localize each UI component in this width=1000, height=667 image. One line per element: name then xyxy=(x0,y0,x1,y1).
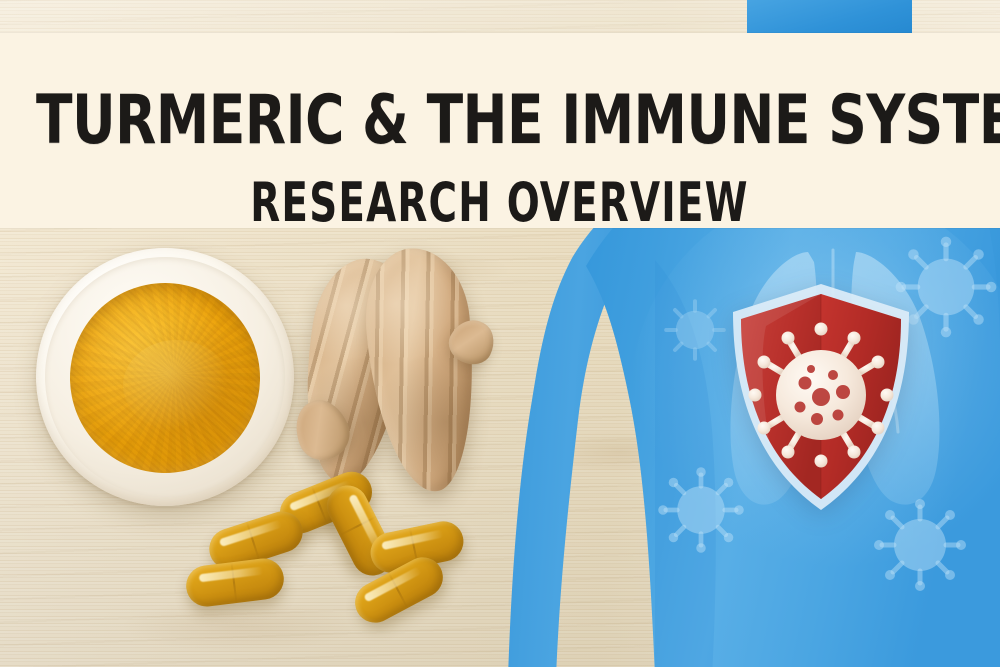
immunity-shield xyxy=(726,278,916,518)
turmeric-powder xyxy=(70,283,260,473)
promo-banner-image: TURMERIC & THE IMMUNE SYSTEM RESEARCH OV… xyxy=(0,0,1000,667)
powder-highlight xyxy=(123,340,229,431)
shield-graphic xyxy=(726,278,916,518)
turmeric-root-right xyxy=(360,244,485,496)
page-subtitle: RESEARCH OVERVIEW xyxy=(0,176,1000,230)
capsule-seam xyxy=(339,516,376,536)
bowl-rim xyxy=(45,257,285,497)
capsule-seam xyxy=(246,522,261,562)
virus-particle xyxy=(666,301,724,359)
root-shading xyxy=(360,244,485,496)
title-banner: TURMERIC & THE IMMUNE SYSTEM RESEARCH OV… xyxy=(0,33,1000,228)
page-title: TURMERIC & THE IMMUNE SYSTEM xyxy=(36,87,1000,155)
turmeric-powder-bowl xyxy=(36,248,294,506)
capsule-seam xyxy=(231,562,238,603)
page-subtitle-text: RESEARCH OVERVIEW xyxy=(251,176,749,230)
capsule-seam xyxy=(388,572,409,608)
